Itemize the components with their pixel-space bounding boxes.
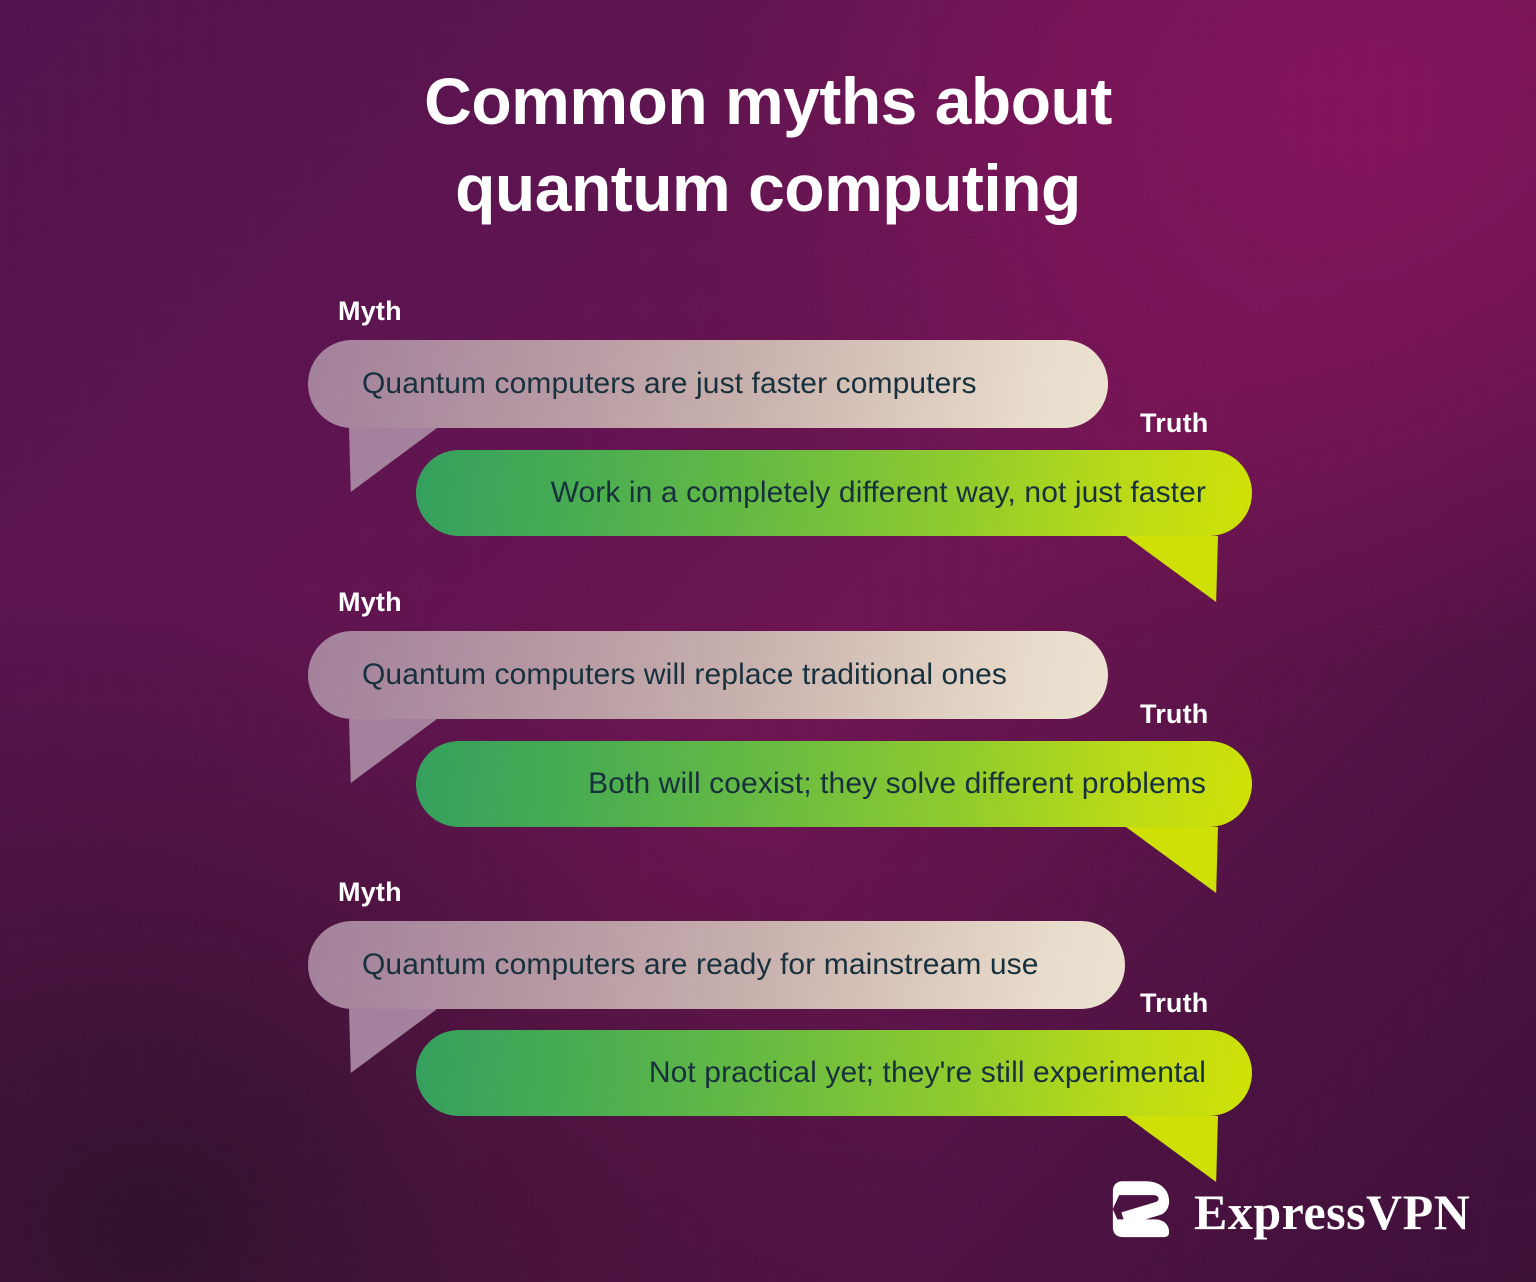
truth-bubble-3: Not practical yet; they're still experim… [416, 1030, 1252, 1116]
myth-bubble-3: Quantum computers are ready for mainstre… [308, 921, 1125, 1009]
truth-bubble-tail-2 [1126, 827, 1218, 893]
myth-label-1: Myth [338, 296, 402, 327]
expressvpn-e-icon [1104, 1172, 1178, 1251]
myth-label-2: Myth [338, 587, 402, 618]
myth-bubble-1: Quantum computers are just faster comput… [308, 340, 1108, 428]
myth-text-2: Quantum computers will replace tradition… [362, 658, 1007, 692]
truth-label-1: Truth [1140, 408, 1209, 439]
myth-text-1: Quantum computers are just faster comput… [362, 367, 977, 401]
page-title-line1: Common myths about [424, 64, 1112, 138]
myth-text-3: Quantum computers are ready for mainstre… [362, 948, 1039, 982]
page-title: Common myths about quantum computing [0, 58, 1536, 232]
truth-bubble-tail-1 [1126, 536, 1218, 602]
truth-text-1: Work in a completely different way, not … [551, 476, 1206, 510]
truth-bubble-2: Both will coexist; they solve different … [416, 741, 1252, 827]
expressvpn-logo: ExpressVPN [1104, 1172, 1470, 1251]
truth-text-2: Both will coexist; they solve different … [588, 767, 1206, 801]
infographic-canvas: Common myths about quantum computing Myt… [0, 0, 1536, 1282]
myth-label-3: Myth [338, 877, 402, 908]
truth-text-3: Not practical yet; they're still experim… [649, 1056, 1206, 1090]
page-title-line2: quantum computing [455, 151, 1081, 225]
truth-label-2: Truth [1140, 699, 1209, 730]
myth-bubble-2: Quantum computers will replace tradition… [308, 631, 1108, 719]
truth-label-3: Truth [1140, 988, 1209, 1019]
expressvpn-wordmark: ExpressVPN [1194, 1183, 1470, 1241]
truth-bubble-1: Work in a completely different way, not … [416, 450, 1252, 536]
